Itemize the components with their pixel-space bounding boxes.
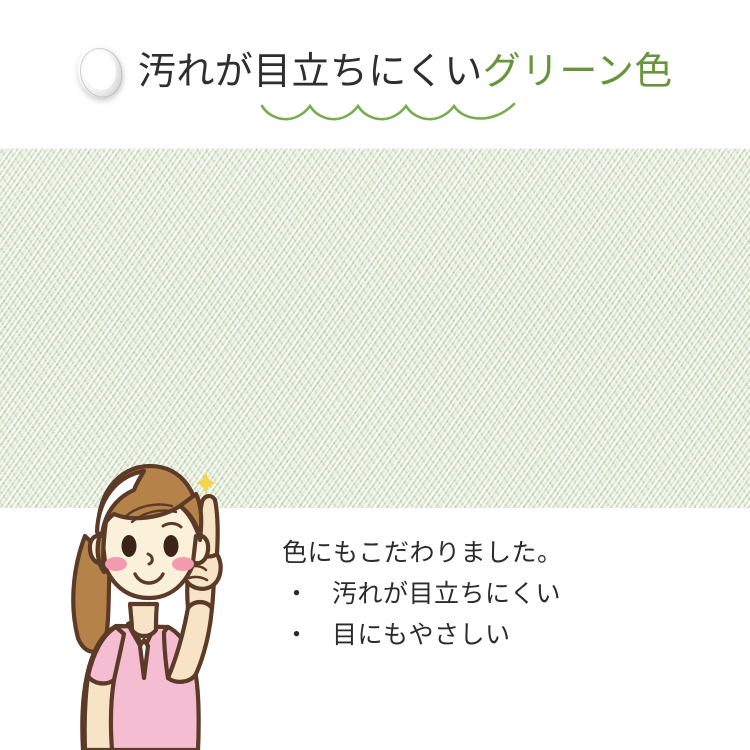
page-title: 汚れが目立ちにくいグリーン色: [138, 53, 673, 91]
headline-green-text: グリーン色: [483, 51, 673, 93]
page-root: 汚れが目立ちにくいグリーン色: [0, 0, 750, 750]
scallop-wave-divider: [258, 100, 518, 128]
copy-heading: 色にもこだわりました。: [282, 533, 702, 574]
bullet-marker: ・: [284, 574, 332, 615]
list-item-label: 汚れが目立ちにくい: [332, 580, 561, 608]
headline-dark-text: 汚れが目立ちにくい: [138, 51, 483, 93]
pointing-woman-illustration: [52, 440, 262, 750]
pearl-bubble-icon: [72, 41, 127, 102]
description-block: 色にもこだわりました。 ・汚れが目立ちにくい ・目にもやさしい: [282, 533, 702, 656]
list-item: ・汚れが目立ちにくい: [282, 574, 702, 615]
header-section: 汚れが目立ちにくいグリーン色: [0, 0, 750, 148]
list-item-label: 目にもやさしい: [332, 621, 511, 649]
list-item: ・目にもやさしい: [282, 615, 702, 656]
bullet-marker: ・: [284, 615, 332, 656]
headline-row: 汚れが目立ちにくいグリーン色: [78, 46, 673, 98]
